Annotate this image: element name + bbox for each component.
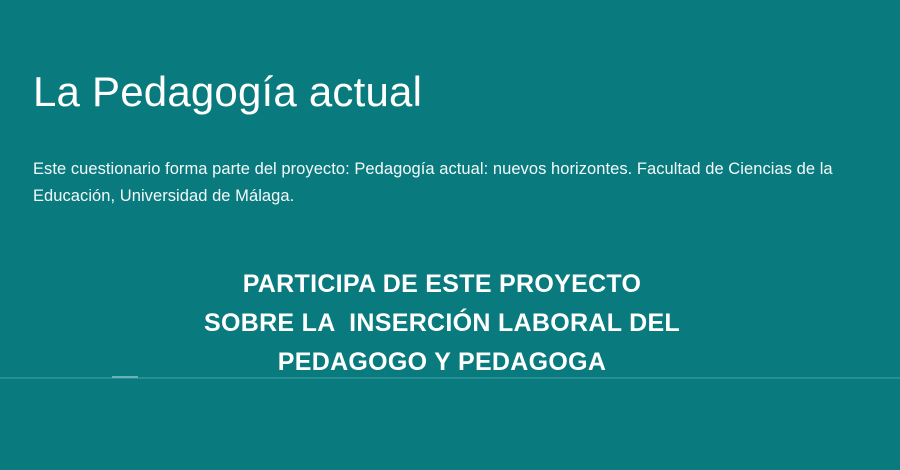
headline-line-1: PARTICIPA DE ESTE PROYECTO [0, 265, 884, 304]
poster-banner: La Pedagogía actual Este cuestionario fo… [0, 0, 900, 470]
lower-background-band [0, 379, 900, 470]
page-title: La Pedagogía actual [33, 68, 422, 115]
project-description: Este cuestionario forma parte del proyec… [33, 156, 885, 210]
headline-line-2: SOBRE LA INSERCIÓN LABORAL DEL [0, 304, 884, 343]
call-to-action-headline: PARTICIPA DE ESTE PROYECTO SOBRE LA INSE… [0, 265, 884, 382]
section-divider-highlight [112, 376, 138, 378]
